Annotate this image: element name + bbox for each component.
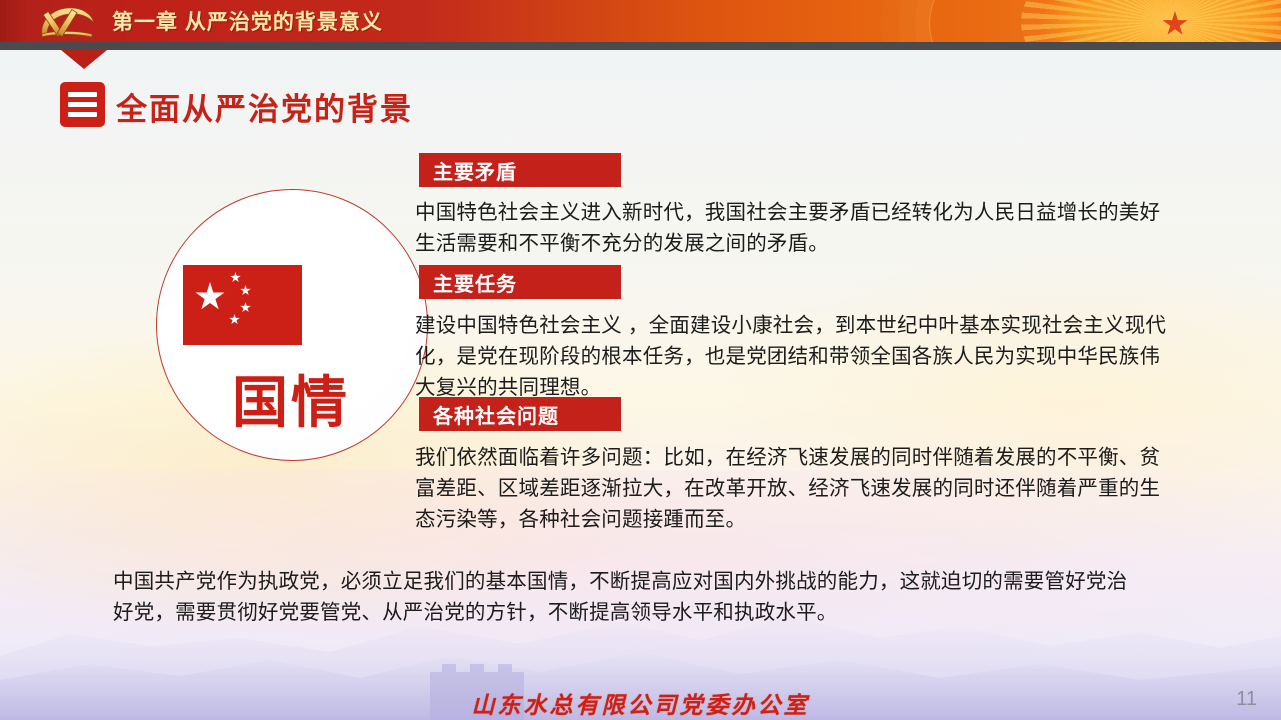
bottom-conclusion-text: 中国共产党作为执政党，必须立足我们的基本国情，不断提高应对国内外挑战的能力，这就… (113, 566, 1133, 628)
header-starburst-decoration (1021, 0, 1281, 42)
block-tag-main-task: 主要任务 (419, 265, 621, 299)
header-divider-bar (0, 42, 1281, 50)
block-tag-main-contradiction: 主要矛盾 (419, 153, 621, 187)
slide-root: 第一章 从严治党的背景意义 全面从严治党的背景 国情 主要矛盾 中国特色社会主义… (0, 0, 1281, 720)
china-flag-icon (183, 265, 302, 345)
guoqing-label: 国情 (156, 358, 426, 439)
block-tag-social-problems: 各种社会问题 (419, 397, 621, 431)
flag-star-small-1 (230, 272, 241, 283)
triangle-down-icon (61, 50, 107, 69)
hammer-sickle-emblem-icon (34, 3, 102, 41)
block-body-main-contradiction: 中国特色社会主义进入新时代，我国社会主要矛盾已经转化为人民日益增长的美好生活需要… (415, 197, 1170, 259)
section-title: 全面从严治党的背景 (116, 84, 413, 129)
block-body-main-task: 建设中国特色社会主义 ，全面建设小康社会，到本世纪中叶基本实现社会主义现代化，是… (415, 310, 1170, 403)
slide-header: 第一章 从严治党的背景意义 (0, 0, 1281, 42)
page-number: 11 (1236, 688, 1257, 711)
flag-star-small-4 (229, 314, 240, 325)
footer-organization: 山东水总有限公司党委办公室 (0, 686, 1281, 720)
menu-bars-icon (60, 82, 105, 127)
chapter-title: 第一章 从严治党的背景意义 (112, 6, 383, 36)
flag-star-small-2 (240, 285, 251, 296)
flag-star-large (195, 282, 225, 312)
flag-star-small-3 (240, 302, 251, 313)
block-body-social-problems: 我们依然面临着许多问题：比如，在经济飞速发展的同时伴随着发展的不平衡、贫富差距、… (415, 442, 1170, 535)
